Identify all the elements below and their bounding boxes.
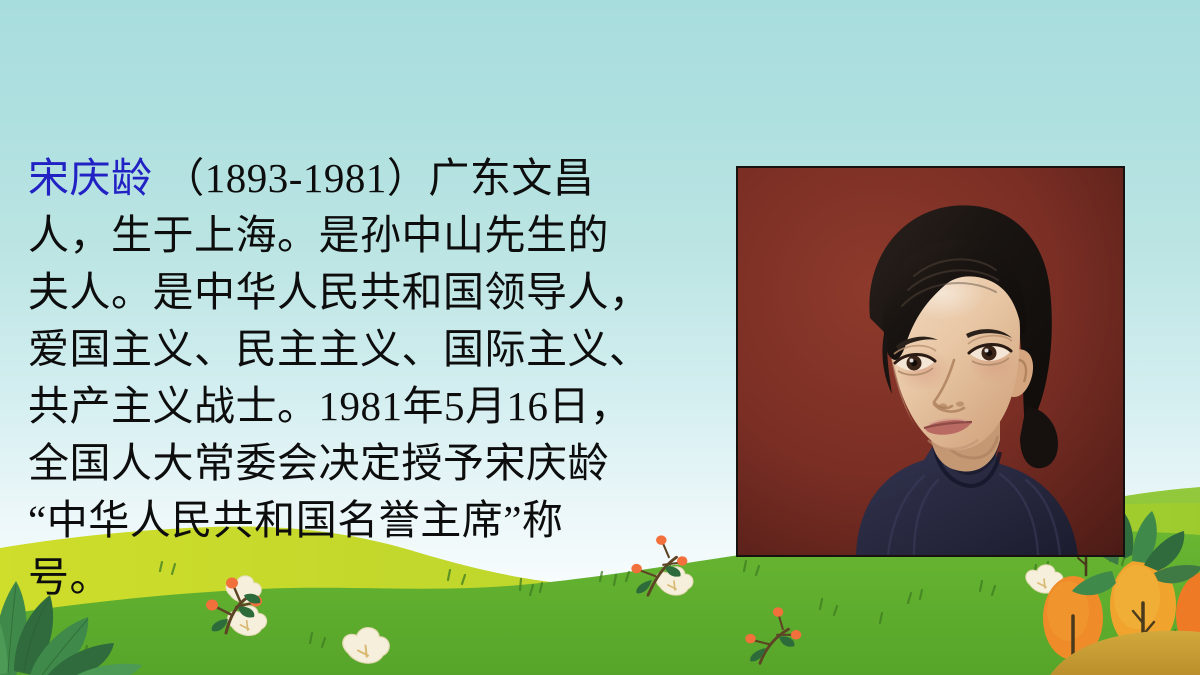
orange-trees-right bbox=[1043, 559, 1200, 660]
orange-tree-1 bbox=[1043, 576, 1103, 660]
slide-canvas: 宋庆龄 （1893-1981）广东文昌 人，生于上海。是孙中山先生的 夫人。是中… bbox=[0, 0, 1200, 675]
subject-name: 宋庆龄 bbox=[28, 155, 153, 201]
orange-tree-3 bbox=[1176, 571, 1200, 659]
sand-mound-right bbox=[1050, 631, 1200, 675]
text-line-7: “中华人民共和国名誉主席”称 bbox=[28, 492, 718, 549]
text-line-4: 爱国主义、民主主义、国际主义、 bbox=[28, 321, 718, 378]
biography-text-block: 宋庆龄 （1893-1981）广东文昌 人，生于上海。是孙中山先生的 夫人。是中… bbox=[28, 150, 718, 606]
text-line-8: 号。 bbox=[28, 549, 718, 606]
text-line-2: 人，生于上海。是孙中山先生的 bbox=[28, 207, 718, 264]
text-line-1: 宋庆龄 （1893-1981）广东文昌 bbox=[28, 150, 718, 207]
berry-sprig-right bbox=[745, 607, 801, 663]
text-line-1-rest: （1893-1981）广东文昌 bbox=[153, 155, 595, 201]
text-line-3: 夫人。是中华人民共和国领导人， bbox=[28, 264, 718, 321]
text-line-6: 全国人大常委会决定授予宋庆龄 bbox=[28, 435, 718, 492]
orange-tree-2 bbox=[1110, 559, 1176, 651]
text-line-5: 共产主义战士。1981年5月16日， bbox=[28, 378, 718, 435]
portrait-photo bbox=[736, 166, 1125, 557]
